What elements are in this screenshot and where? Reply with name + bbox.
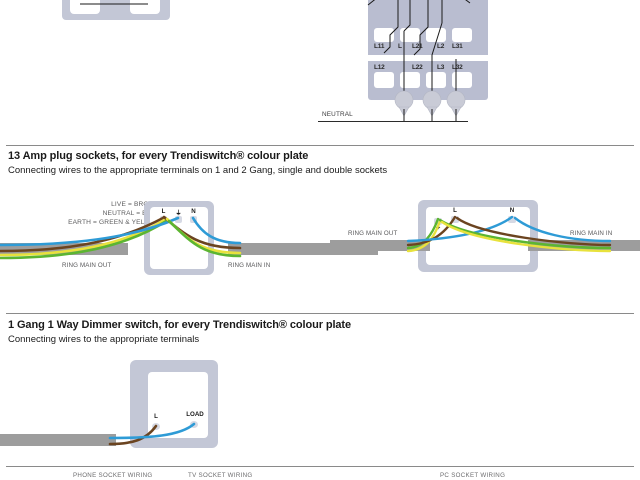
section-divider-1 xyxy=(6,145,634,146)
dimmer-section-title: 1 Gang 1 Way Dimmer switch, for every Tr… xyxy=(8,319,351,331)
footer-label-pc: PC SOCKET WIRING xyxy=(440,472,505,479)
double-socket-cable-in-label: RING MAIN IN xyxy=(570,230,612,237)
wiring-diagram-page: L2 L2 L11 L L21 L2 L31 L12 L2 xyxy=(0,0,640,480)
footer-label-tv: TV SOCKET WIRING xyxy=(188,472,253,479)
double-socket-wires xyxy=(0,195,640,315)
sockets-section-title: 13 Amp plug sockets, for every Trendiswi… xyxy=(8,150,308,162)
double-socket-cable-out-label: RING MAIN OUT xyxy=(348,230,397,237)
footer-label-phone: PHONE SOCKET WIRING xyxy=(73,472,153,479)
neutral-label: NEUTRAL xyxy=(322,111,353,118)
section-divider-3 xyxy=(6,466,634,467)
dimmer-wires xyxy=(0,400,640,480)
dimmer-section-subtitle: Connecting wires to the appropriate term… xyxy=(8,334,199,345)
lamp-symbols xyxy=(0,88,640,138)
sockets-section-subtitle: Connecting wires to the appropriate term… xyxy=(8,165,387,176)
section-divider-2 xyxy=(6,313,634,314)
neutral-bus-line xyxy=(318,121,468,122)
